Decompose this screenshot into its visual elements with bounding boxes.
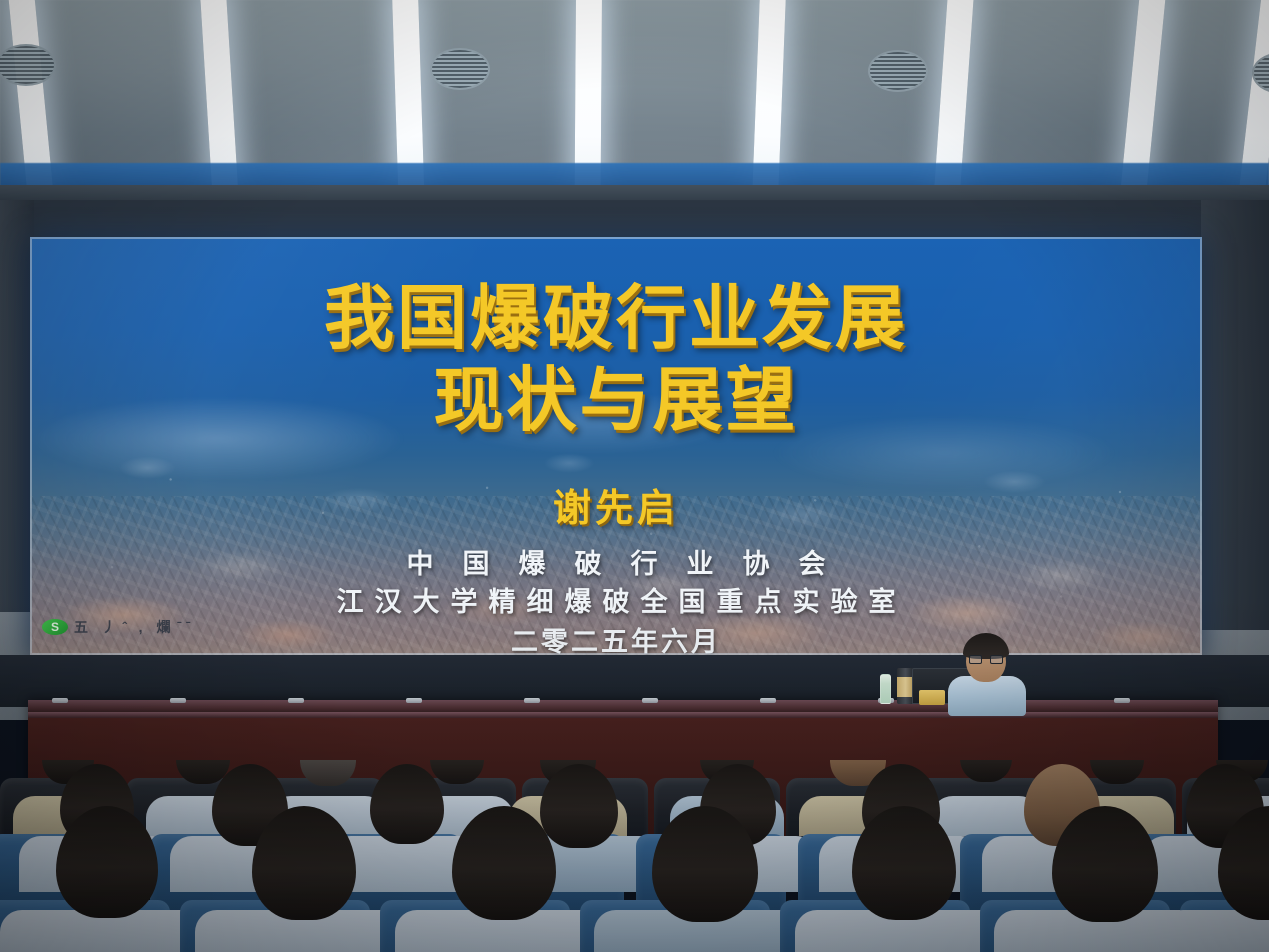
ceiling-blue-accent-band [0,163,1269,187]
slide-content: 我国爆破行业发展 现状与展望 谢先启 中国爆破行业协会 江汉大学精细爆破全国重点… [30,237,1202,655]
table-microphone [406,698,422,703]
audience-member-head [540,764,618,848]
slide-presenter-name: 谢先启 [30,477,1202,532]
slide-affiliation-2: 江汉大学精细爆破全国重点实验室 [30,580,1202,619]
table-microphone [288,698,304,703]
table-microphone [642,698,658,703]
head-table-edge [28,712,1218,718]
conference-hall-photo: 我国爆破行业发展 现状与展望 谢先启 中国爆破行业协会 江汉大学精细爆破全国重点… [0,0,1269,952]
glasses-icon [969,655,1003,664]
s-logo-icon: S [42,619,68,635]
presenter-torso [948,676,1026,716]
slide-logo-text: 五 丿 ̂ , 爛 ̄ ̄ [74,617,193,637]
ceiling-air-vent [868,50,928,92]
table-microphones [28,698,1218,706]
slide-affiliation-1: 中国爆破行业协会 [30,542,1202,581]
table-microphone [760,698,776,703]
table-microphone [1114,698,1130,703]
ceiling-air-vent [430,48,490,90]
slide-title-line1: 我国爆破行业发展 [324,279,908,357]
projection-screen: 我国爆破行业发展 现状与展望 谢先启 中国爆破行业协会 江汉大学精细爆破全国重点… [30,237,1202,655]
ceiling [0,0,1269,205]
table-microphone [170,698,186,703]
water-bottle [880,674,891,704]
slide-corner-logo: S 五 丿 ̂ , 爛 ̄ ̄ [42,617,193,637]
audience-member-head [370,764,444,844]
table-microphone [52,698,68,703]
yellow-box [919,690,945,705]
seated-presenter [948,636,1026,712]
slide-title: 我国爆破行业发展 现状与展望 [30,277,1202,441]
slide-title-line2: 现状与展望 [30,359,1202,441]
table-microphone [524,698,540,703]
slide-date: 二零二五年六月 [30,620,1202,655]
audience [0,760,1269,952]
